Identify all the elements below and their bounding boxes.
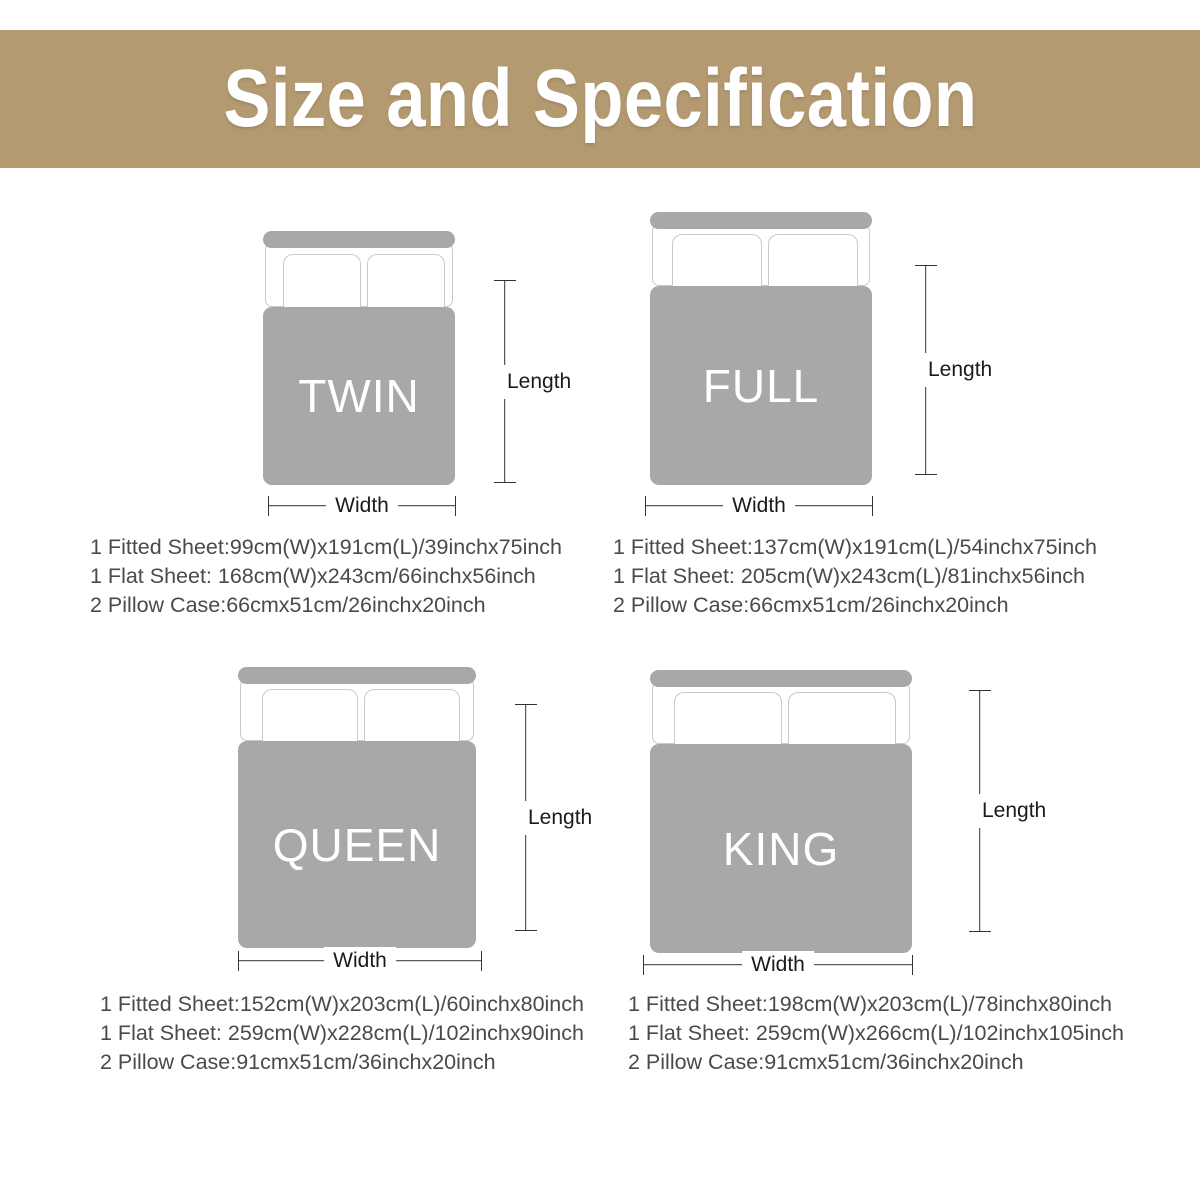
length-cap-top-full: [915, 265, 937, 266]
width-label-twin: Width: [326, 492, 398, 520]
width-dimension-king: Width: [643, 955, 913, 975]
headboard-bar-queen: [238, 667, 476, 684]
size-specification-page: Size and Specification TWIN Length Width…: [0, 0, 1200, 1200]
length-cap-bottom-full: [915, 474, 937, 475]
length-label-twin: Length: [503, 365, 575, 399]
spec-line-fitted-sheet-king: 1 Fitted Sheet:198cm(W)x203cm(L)/78inchx…: [628, 990, 1168, 1019]
width-cap-right-twin: [455, 496, 456, 516]
length-cap-bottom-queen: [515, 930, 537, 931]
spec-line-pillow-case-full: 2 Pillow Case:66cmx51cm/26inchx20inch: [613, 591, 1143, 620]
spec-line-flat-sheet-full: 1 Flat Sheet: 205cm(W)x243cm(L)/81inchx5…: [613, 562, 1143, 591]
bed-size-label-full: FULL: [703, 359, 819, 413]
headboard-bar-king: [650, 670, 912, 687]
mattress-full: FULL: [650, 286, 872, 485]
width-dimension-full: Width: [645, 496, 873, 516]
spec-line-flat-sheet-king: 1 Flat Sheet: 259cm(W)x266cm(L)/102inchx…: [628, 1019, 1168, 1048]
header-banner: Size and Specification: [0, 30, 1200, 168]
pillow-right-full: [768, 234, 858, 286]
bed-diagram-full: FULL: [650, 212, 872, 485]
mattress-queen: QUEEN: [238, 741, 476, 948]
spec-line-pillow-case-twin: 2 Pillow Case:66cmx51cm/26inchx20inch: [90, 591, 610, 620]
length-cap-bottom-twin: [494, 482, 516, 483]
spec-line-flat-sheet-queen: 1 Flat Sheet: 259cm(W)x228cm(L)/102inchx…: [100, 1019, 630, 1048]
width-dimension-twin: Width: [268, 496, 456, 516]
length-dimension-full: Length: [914, 265, 938, 475]
width-cap-left-twin: [268, 496, 269, 516]
length-cap-top-twin: [494, 280, 516, 281]
spec-line-pillow-case-king: 2 Pillow Case:91cmx51cm/36inchx20inch: [628, 1048, 1168, 1077]
length-cap-top-king: [969, 690, 991, 691]
pillow-right-king: [788, 692, 896, 744]
pillow-left-twin: [283, 254, 361, 307]
pillow-left-king: [674, 692, 782, 744]
spec-line-flat-sheet-twin: 1 Flat Sheet: 168cm(W)x243cm/66inchx56in…: [90, 562, 610, 591]
width-cap-left-full: [645, 496, 646, 516]
spec-text-king: 1 Fitted Sheet:198cm(W)x203cm(L)/78inchx…: [628, 990, 1168, 1077]
width-cap-right-queen: [481, 951, 482, 971]
length-label-king: Length: [978, 794, 1050, 828]
length-label-queen: Length: [524, 801, 596, 835]
pillow-right-queen: [364, 689, 460, 741]
length-dimension-king: Length: [968, 690, 992, 932]
spec-line-fitted-sheet-full: 1 Fitted Sheet:137cm(W)x191cm(L)/54inchx…: [613, 533, 1143, 562]
length-dimension-twin: Length: [493, 280, 517, 483]
width-label-queen: Width: [324, 947, 396, 975]
bed-diagram-twin: TWIN: [263, 231, 455, 485]
mattress-king: KING: [650, 744, 912, 953]
width-cap-right-full: [872, 496, 873, 516]
headboard-bar-twin: [263, 231, 455, 248]
width-cap-right-king: [912, 955, 913, 975]
length-dimension-queen: Length: [514, 704, 538, 931]
spec-line-fitted-sheet-twin: 1 Fitted Sheet:99cm(W)x191cm(L)/39inchx7…: [90, 533, 610, 562]
spec-text-full: 1 Fitted Sheet:137cm(W)x191cm(L)/54inchx…: [613, 533, 1143, 620]
length-cap-top-queen: [515, 704, 537, 705]
length-cap-bottom-king: [969, 931, 991, 932]
width-cap-left-king: [643, 955, 644, 975]
width-cap-left-queen: [238, 951, 239, 971]
bed-diagram-king: KING: [650, 670, 912, 953]
headboard-bar-full: [650, 212, 872, 229]
length-label-full: Length: [924, 353, 996, 387]
bed-size-label-queen: QUEEN: [273, 818, 442, 872]
pillow-right-twin: [367, 254, 445, 307]
bed-diagram-queen: QUEEN: [238, 667, 476, 948]
bed-size-label-king: KING: [723, 822, 839, 876]
pillow-left-full: [672, 234, 762, 286]
width-label-king: Width: [742, 951, 814, 979]
spec-line-pillow-case-queen: 2 Pillow Case:91cmx51cm/36inchx20inch: [100, 1048, 630, 1077]
width-dimension-queen: Width: [238, 951, 482, 971]
spec-line-fitted-sheet-queen: 1 Fitted Sheet:152cm(W)x203cm(L)/60inchx…: [100, 990, 630, 1019]
pillow-left-queen: [262, 689, 358, 741]
bed-size-label-twin: TWIN: [298, 369, 420, 423]
width-label-full: Width: [723, 492, 795, 520]
spec-text-twin: 1 Fitted Sheet:99cm(W)x191cm(L)/39inchx7…: [90, 533, 610, 620]
page-title: Size and Specification: [223, 58, 977, 140]
spec-text-queen: 1 Fitted Sheet:152cm(W)x203cm(L)/60inchx…: [100, 990, 630, 1077]
mattress-twin: TWIN: [263, 307, 455, 485]
